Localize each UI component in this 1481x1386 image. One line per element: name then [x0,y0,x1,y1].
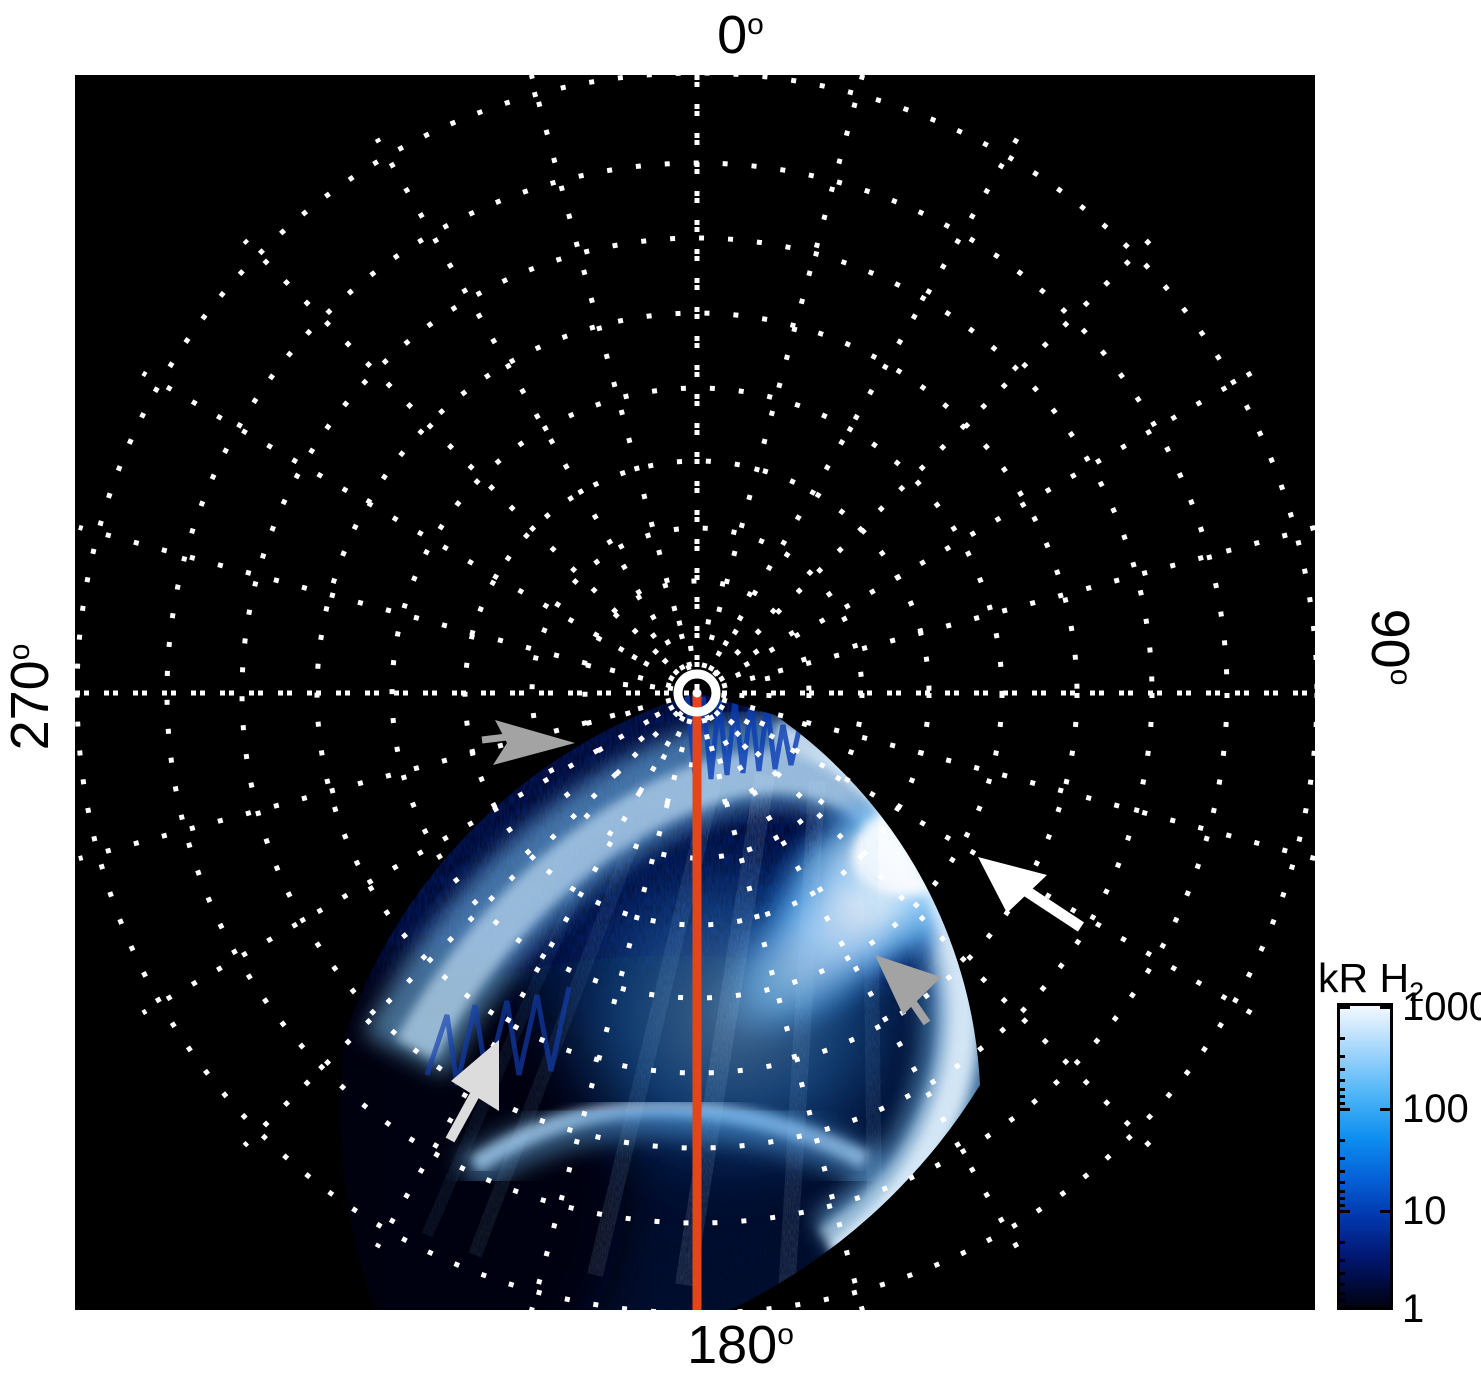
colorbar-tick-1000 [1337,1006,1350,1009]
colorbar-minor-tick [1337,1079,1345,1082]
colorbar-tick-100 [1337,1108,1350,1111]
colorbar-minor-tick [1337,1170,1345,1173]
colorbar-minor-tick [1337,1102,1345,1105]
colorbar-tick-10 [1337,1210,1350,1213]
colorbar-gradient [1337,1003,1393,1310]
axis-label-90deg: 90o [1363,547,1417,747]
colorbar-tick-1000-right [1380,1006,1393,1009]
colorbar-label-10: 10 [1402,1191,1447,1231]
polar-plot-area [75,75,1315,1310]
axis-label-0deg: 0o [0,8,1481,62]
colorbar-minor-tick [1337,1068,1345,1071]
colorbar-minor-tick [1337,1055,1345,1058]
colorbar-minor-tick [1337,1306,1345,1309]
colorbar-minor-tick [1337,1088,1345,1091]
colorbar-minor-tick [1337,1272,1345,1275]
polar-aurora-figure: 0o 180o 270o 90o kR H2 [0,0,1481,1386]
colorbar-minor-tick [1337,1204,1345,1207]
colorbar-minor-tick [1337,1190,1345,1193]
colorbar-minor-tick [1337,1139,1345,1142]
axis-label-180deg: 180o [0,1318,1481,1372]
colorbar-minor-tick [1337,1095,1345,1098]
colorbar-label-100: 100 [1402,1089,1469,1129]
colorbar-minor-tick [1337,1259,1345,1262]
colorbar-minor-tick [1337,1241,1345,1244]
colorbar-minor-tick [1337,1197,1345,1200]
aurora-emission [185,693,1155,1310]
colorbar-minor-tick [1337,1299,1345,1302]
colorbar-tick-100-right [1380,1108,1393,1111]
polar-plot-svg [75,75,1315,1310]
colorbar-label-1000: 1000 [1402,987,1481,1027]
arrow-upper-right-white [978,857,1081,927]
colorbar-minor-tick [1337,1181,1345,1184]
colorbar-minor-tick [1337,1292,1345,1295]
aurora-polar-cap-fill [525,825,945,1205]
colorbar-label-1: 1 [1402,1289,1424,1329]
axis-label-270deg: 270o [3,597,57,797]
colorbar-minor-tick [1337,1283,1345,1286]
colorbar-minor-tick [1337,1157,1345,1160]
colorbar: kR H2 1000 100 10 1 [1318,955,1481,1335]
colorbar-tick-10-right [1380,1210,1393,1213]
colorbar-minor-tick [1337,1037,1345,1040]
